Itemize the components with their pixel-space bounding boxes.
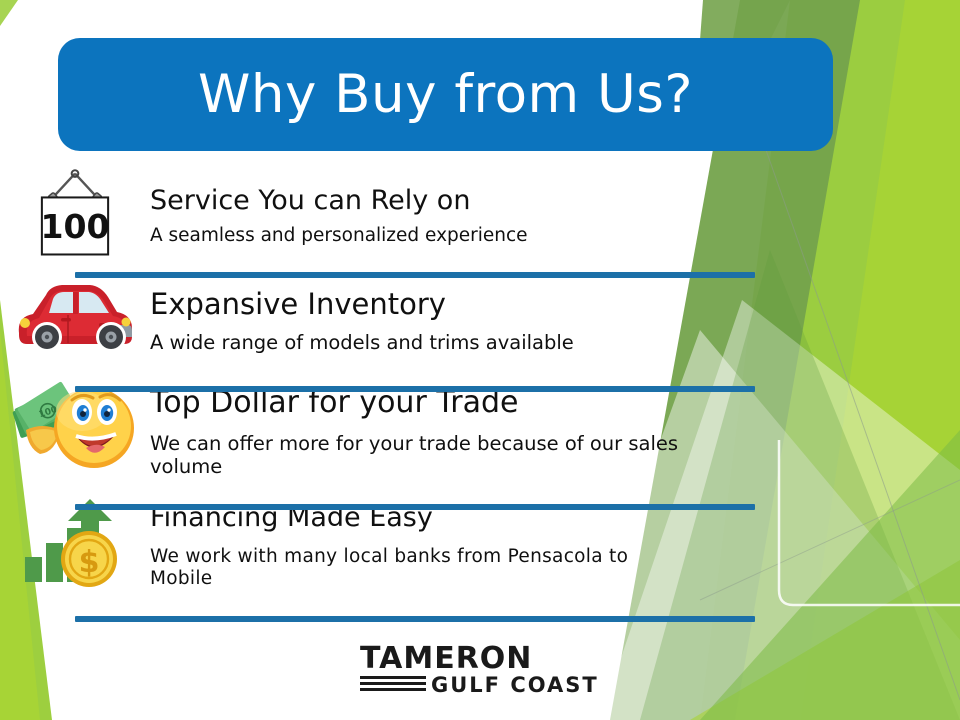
benefit-text-block: Expansive Inventory A wide range of mode… <box>150 273 960 354</box>
price-sign-100-icon: 100 <box>29 168 121 260</box>
benefits-list: 100 Service You can Rely on A seamless a… <box>0 168 960 607</box>
benefit-title: Service You can Rely on <box>150 186 948 216</box>
logo-stripes <box>360 676 426 691</box>
benefit-subtitle: A seamless and personalized experience <box>150 225 948 247</box>
benefit-icon-slot: 100 <box>0 168 150 260</box>
row-divider <box>75 386 755 392</box>
benefit-text-block: Service You can Rely on A seamless and p… <box>150 168 960 247</box>
price-sign-value: 100 <box>40 207 109 246</box>
row-divider <box>75 616 755 622</box>
benefit-subtitle: A wide range of models and trims availab… <box>150 331 948 354</box>
smiley-with-cash-icon: 100 <box>10 378 140 474</box>
benefit-icon-slot <box>0 273 150 358</box>
slide-canvas: Why Buy from Us? 100 Service You can Rel… <box>0 0 960 720</box>
benefit-icon-slot: 100 <box>0 378 150 474</box>
row-divider <box>75 272 755 278</box>
benefit-row: $ Financing Made Easy We work with many … <box>0 495 960 607</box>
row-divider <box>75 504 755 510</box>
svg-text:$: $ <box>79 545 100 580</box>
benefit-subtitle: We work with many local banks from Pensa… <box>150 546 650 590</box>
benefit-text-block: Top Dollar for your Trade We can offer m… <box>150 378 960 478</box>
logo-secondary-text: GULF COAST <box>431 673 599 697</box>
benefit-row: 100 Service You can Rely on A seamless a… <box>0 168 960 273</box>
benefit-subtitle: We can offer more for your trade because… <box>150 432 680 478</box>
tameron-gulf-coast-logo: TAMERON GULF COAST <box>352 640 602 702</box>
benefit-row: Expansive Inventory A wide range of mode… <box>0 273 960 378</box>
page-title: Why Buy from Us? <box>198 68 693 121</box>
red-car-icon <box>13 273 138 358</box>
logo-mark: TAMERON GULF COAST <box>352 640 602 702</box>
logo-primary-text: TAMERON <box>360 641 532 676</box>
benefit-title: Expansive Inventory <box>150 288 948 320</box>
benefit-row: 100 <box>0 378 960 495</box>
slide-title-banner: Why Buy from Us? <box>58 38 833 151</box>
